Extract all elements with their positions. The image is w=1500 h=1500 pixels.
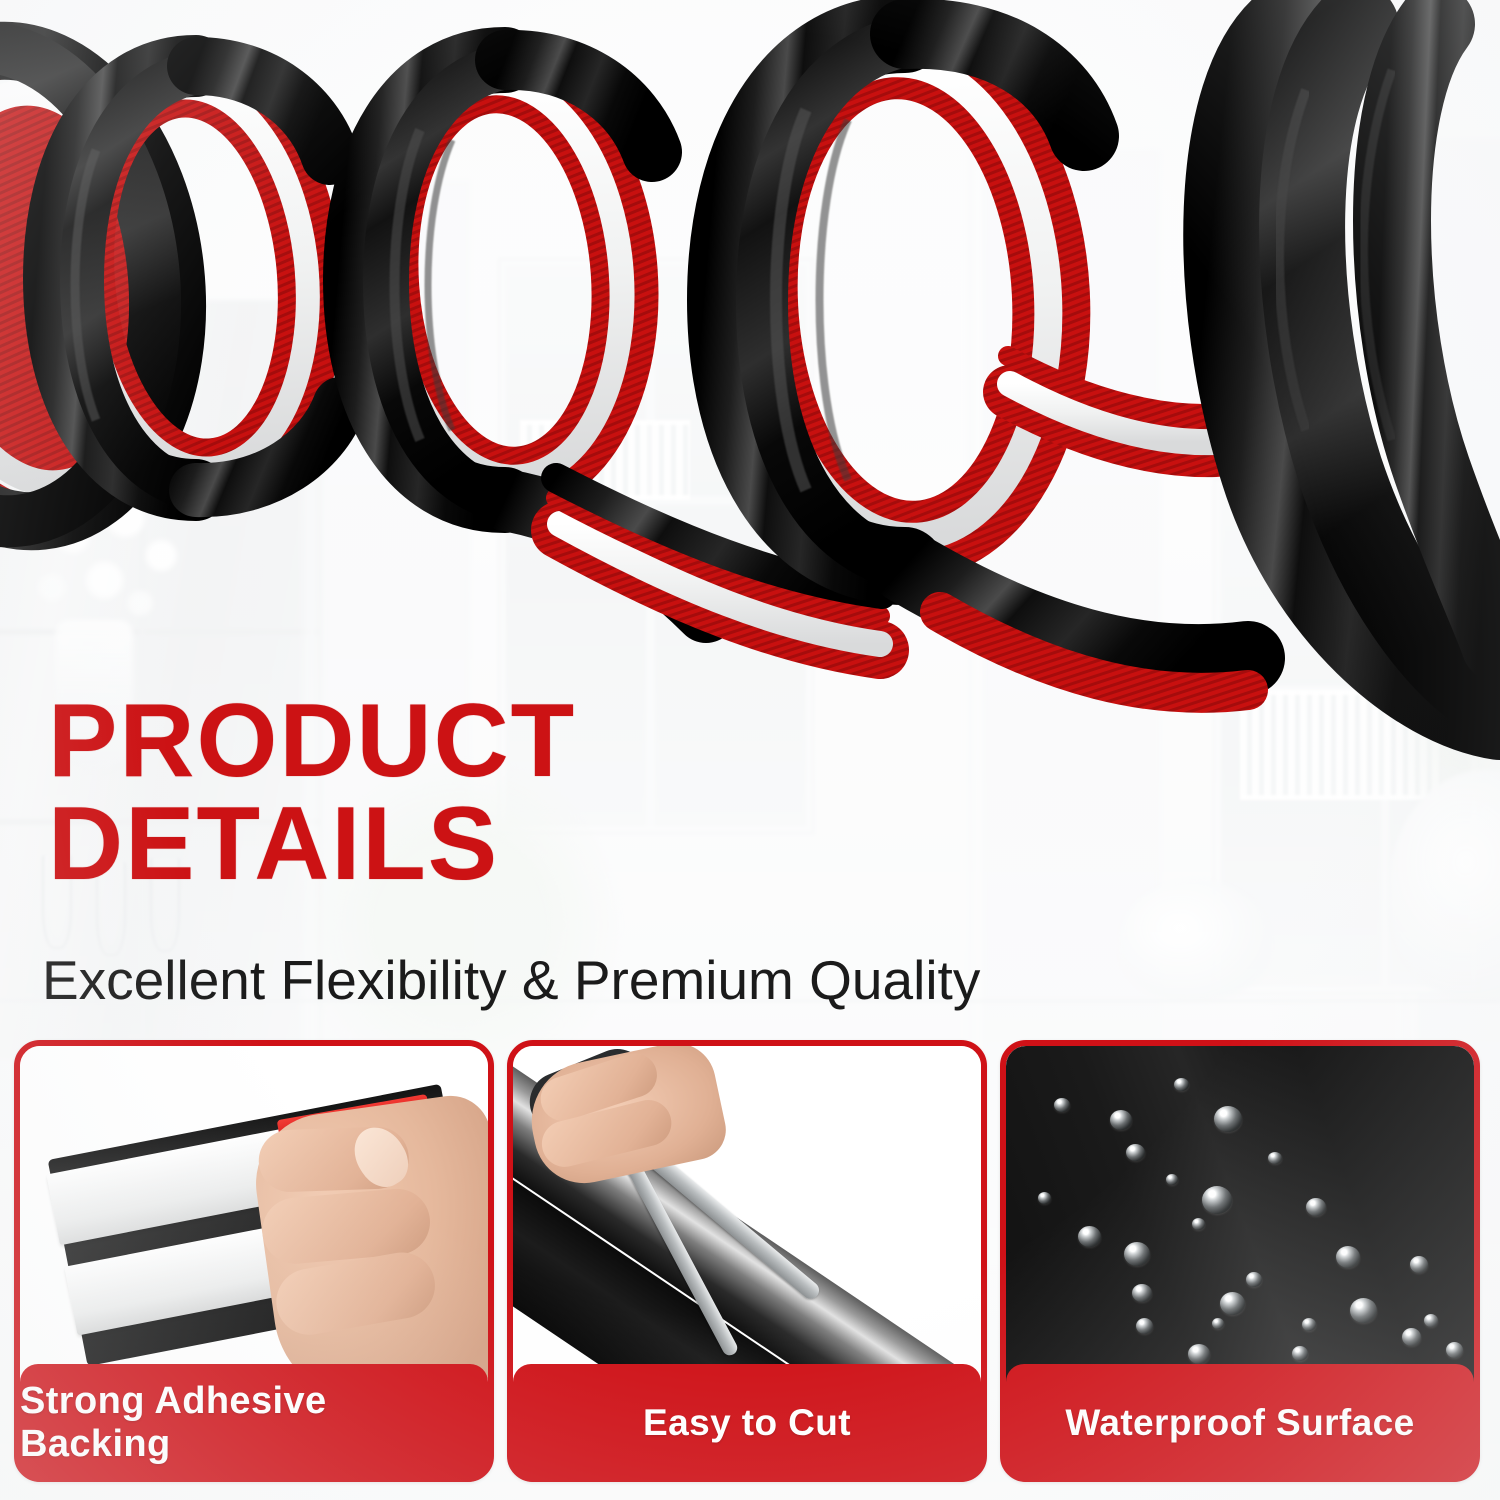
feature-panel-cut: Easy to Cut <box>507 1040 987 1482</box>
hand <box>521 1046 732 1192</box>
coil-loop-5 <box>1231 24 1500 712</box>
caption-cut: Easy to Cut <box>513 1364 981 1482</box>
feature-panel-waterproof: Waterproof Surface <box>1000 1040 1480 1482</box>
title-line-1: PRODUCT <box>48 690 576 793</box>
title-line-2: DETAILS <box>48 793 576 896</box>
feature-panel-adhesive: Strong Adhesive Backing <box>14 1040 494 1482</box>
caption-adhesive: Strong Adhesive Backing <box>20 1364 488 1482</box>
coil-ribbon-right-adhesive <box>1008 356 1216 450</box>
feature-panel-row: Strong Adhesive Backing <box>0 1040 1500 1490</box>
hero-product-coil <box>0 0 1500 760</box>
product-detail-infographic: PRODUCT DETAILS Excellent Flexibility & … <box>0 0 1500 1500</box>
page-title: PRODUCT DETAILS <box>48 690 576 896</box>
caption-waterproof: Waterproof Surface <box>1006 1364 1474 1482</box>
page-subtitle: Excellent Flexibility & Premium Quality <box>42 948 980 1012</box>
